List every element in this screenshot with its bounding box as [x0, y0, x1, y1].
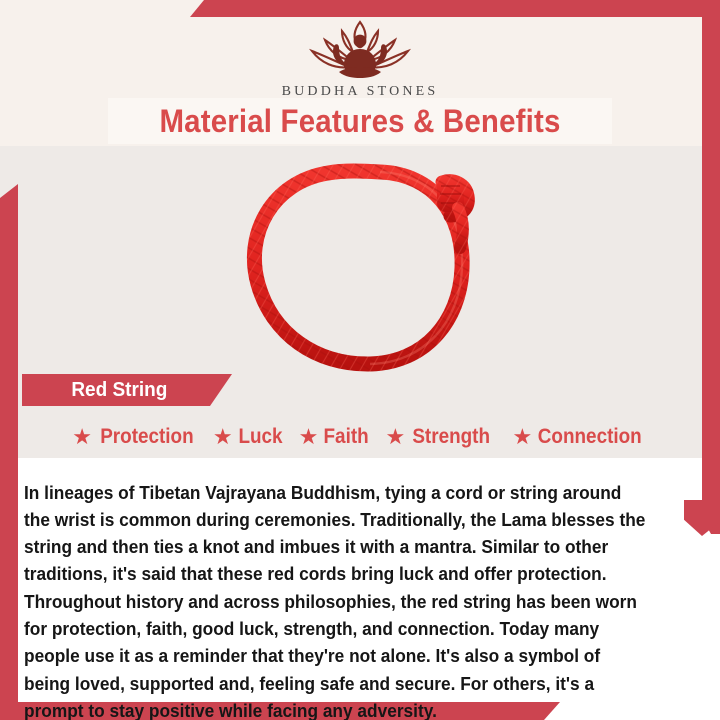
product-label: Red String — [26, 379, 168, 402]
benefits-row: ★ Protection ★ Luck ★ Faith ★ Strength ★… — [0, 420, 720, 454]
benefit-label: Faith — [324, 425, 369, 449]
brand-logo: BUDDHA STONES — [0, 18, 720, 100]
description-text: In lineages of Tibetan Vajrayana Buddhis… — [24, 479, 649, 720]
benefit-item-luck: ★ Luck — [213, 425, 285, 449]
benefit-item-strength: ★ Strength — [385, 425, 494, 449]
star-icon: ★ — [385, 426, 405, 448]
page-title: Material Features & Benefits — [159, 103, 560, 140]
decorative-top-red-bar — [190, 0, 720, 17]
infographic-page: BUDDHA STONES Material Features & Benefi… — [0, 0, 720, 720]
benefit-item-faith: ★ Faith — [299, 425, 372, 449]
star-icon: ★ — [299, 426, 319, 448]
title-banner: Material Features & Benefits — [108, 98, 612, 144]
benefit-label: Luck — [238, 425, 282, 449]
lotus-meditation-icon — [301, 18, 419, 82]
star-icon: ★ — [213, 426, 233, 448]
benefit-item-protection: ★ Protection — [72, 425, 199, 449]
benefit-item-connection: ★ Connection — [513, 425, 648, 449]
benefit-label: Protection — [100, 425, 193, 449]
red-braided-string-bracelet — [228, 158, 500, 380]
product-label-banner: Red String — [22, 374, 232, 406]
star-icon: ★ — [513, 426, 533, 448]
benefit-label: Strength — [413, 425, 491, 449]
benefit-label: Connection — [538, 425, 642, 449]
star-icon: ★ — [72, 426, 92, 448]
